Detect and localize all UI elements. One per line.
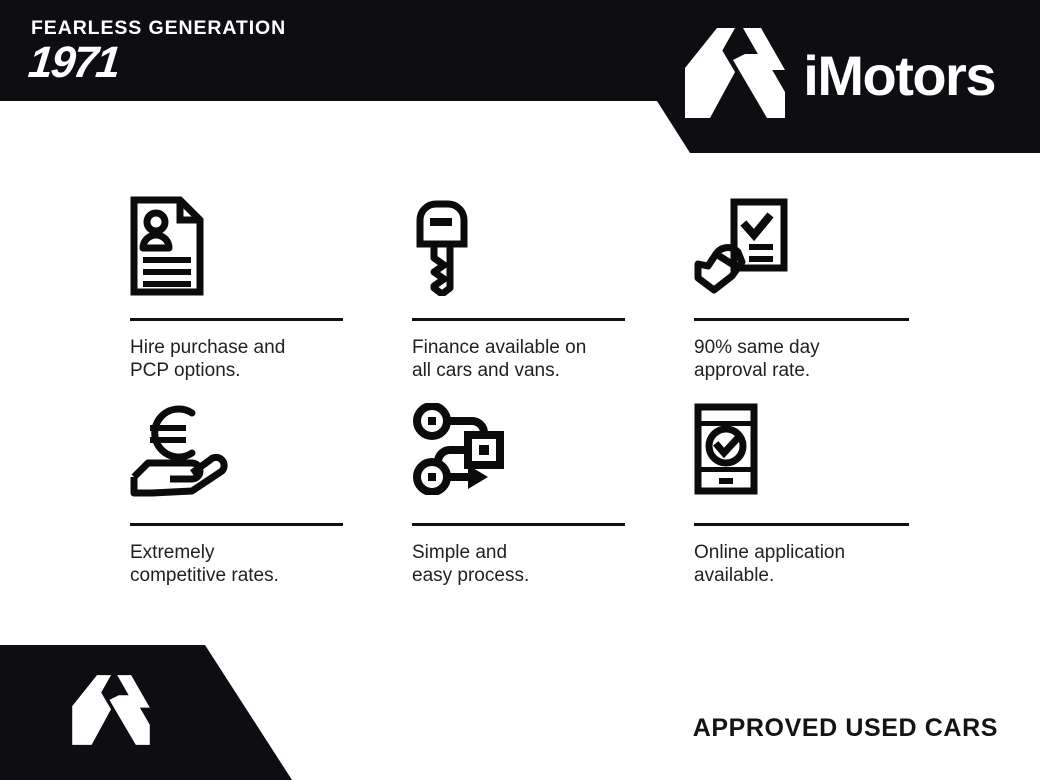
imotors-chevron-logo-icon — [685, 24, 785, 127]
feature-label: Hire purchase and PCP options. — [130, 337, 343, 403]
brand-lockup[interactable]: iMotors — [685, 24, 995, 127]
feature-grid: Hire purchase and PCP options. Finance a… — [130, 196, 920, 608]
process-flow-icon — [412, 403, 625, 513]
smartphone-check-icon — [694, 403, 909, 513]
footer-tagline: APPROVED USED CARS — [693, 714, 998, 743]
feature-card-hire-purchase: Hire purchase and PCP options. — [130, 196, 343, 403]
feature-divider — [694, 523, 909, 526]
feature-card-simple-process: Simple and easy process. — [412, 403, 625, 608]
feature-divider — [694, 318, 909, 321]
hand-holding-checklist-icon — [694, 196, 909, 308]
feature-label: Simple and easy process. — [412, 542, 625, 608]
feature-label: Finance available on all cars and vans. — [412, 337, 625, 403]
document-person-icon — [130, 196, 343, 308]
feature-card-approval-rate: 90% same day approval rate. — [694, 196, 909, 403]
feature-card-competitive-rates: Extremely competitive rates. — [130, 403, 343, 608]
feature-divider — [130, 318, 343, 321]
feature-card-online-application: Online application available. — [694, 403, 909, 608]
feature-label: 90% same day approval rate. — [694, 337, 909, 403]
feature-label: Extremely competitive rates. — [130, 542, 343, 608]
imotors-chevron-logo-icon — [72, 672, 150, 753]
feature-divider — [412, 523, 625, 526]
feature-card-finance-available: Finance available on all cars and vans. — [412, 196, 625, 403]
brand-name: iMotors — [803, 46, 995, 106]
feature-divider — [412, 318, 625, 321]
promotional-banner: FEARLESS GENERATION 1971 iMotors — [0, 0, 1040, 780]
fearless-generation-block: FEARLESS GENERATION 1971 — [31, 17, 286, 86]
car-key-icon — [412, 196, 625, 308]
year-1971-mark: 1971 — [26, 40, 286, 86]
feature-label: Online application available. — [694, 542, 909, 608]
euro-in-hand-icon — [130, 403, 343, 513]
fearless-generation-title: FEARLESS GENERATION — [31, 17, 286, 39]
footer-shape — [0, 645, 300, 780]
feature-divider — [130, 523, 343, 526]
